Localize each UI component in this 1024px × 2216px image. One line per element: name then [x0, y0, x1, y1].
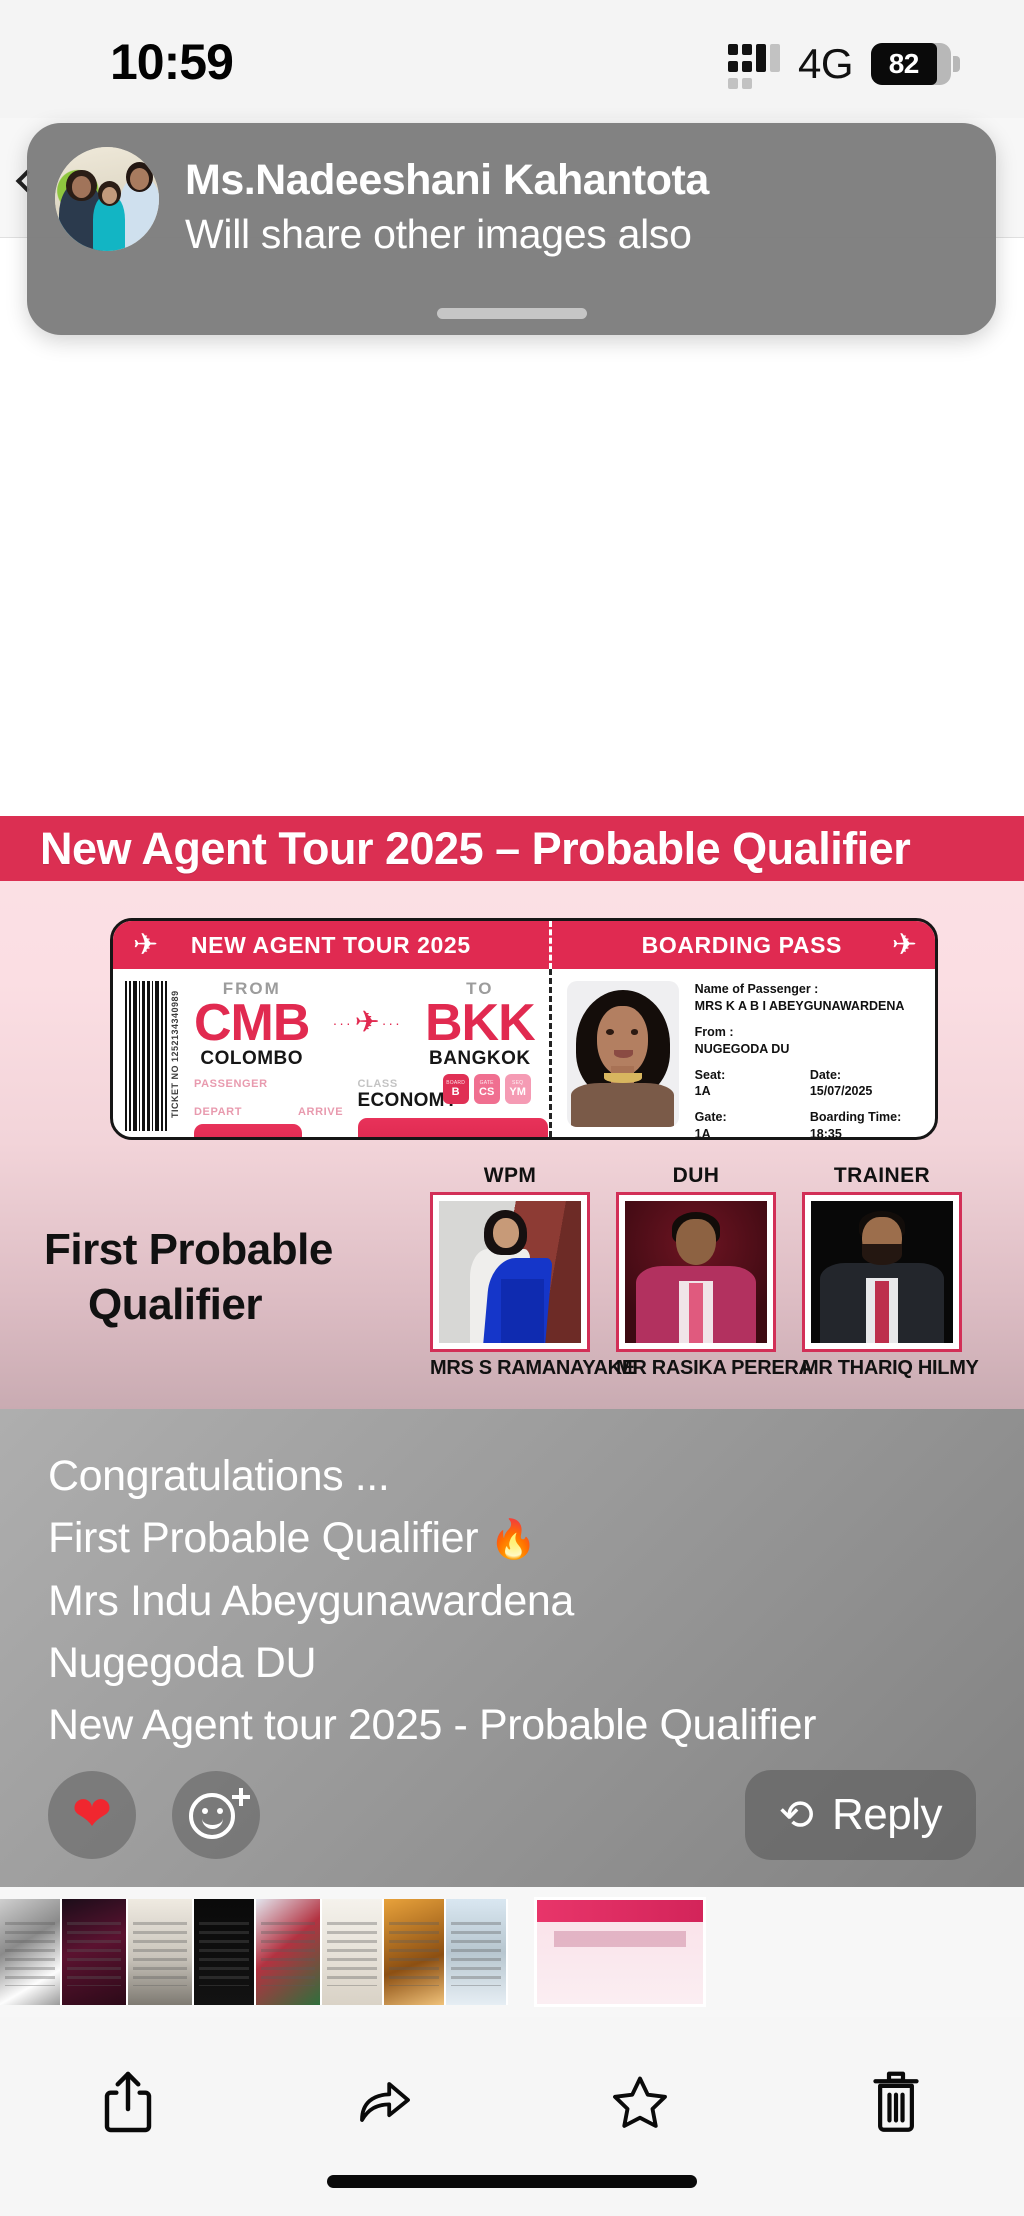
- date-label: Date:: [810, 1067, 925, 1084]
- gate-value: 1A: [695, 1126, 810, 1140]
- boarding-pass-stub: TICKET NO 1252134340989 FROM CMB COLOMBO…: [113, 969, 549, 1137]
- to-code: BKK: [425, 999, 535, 1048]
- image-thumbnail[interactable]: [0, 1899, 62, 2005]
- message-overlay: Congratulations ... First Probable Quali…: [0, 1409, 1024, 1887]
- image-thumbnail[interactable]: [194, 1899, 256, 2005]
- origin-label: From :: [695, 1024, 925, 1041]
- notification-message: Will share other images also: [185, 210, 709, 258]
- qualifier-heading: First Probable Qualifier: [44, 1222, 333, 1333]
- portrait-role: WPM: [430, 1164, 590, 1188]
- from-city: COLOMBO: [194, 1048, 309, 1070]
- portrait-photo-duh: [616, 1192, 776, 1352]
- message-line: New Agent tour 2025 - Probable Qualifier: [48, 1694, 1024, 1756]
- message-line-text: First Probable Qualifier: [48, 1514, 490, 1562]
- passenger-label: PASSENGER: [194, 1078, 358, 1090]
- passenger-name-value: MRS K A B I ABEYGUNAWARDENA: [695, 998, 925, 1015]
- barcode-icon: [125, 981, 167, 1131]
- portrait-photo-wpm: [430, 1192, 590, 1352]
- gate-label: Gate:: [695, 1109, 810, 1126]
- fire-emoji-icon: 🔥: [490, 1519, 537, 1561]
- boarding-pass-card: ✈ NEW AGENT TOUR 2025 BOARDING PASS ✈ TI…: [110, 918, 938, 1140]
- passenger-photo: [567, 981, 679, 1127]
- notification-sender: Ms.Nadeeshani Kahantota: [185, 155, 709, 206]
- share-icon: [100, 2069, 156, 2135]
- boarding-time-value: 18:35: [810, 1126, 925, 1140]
- depart-label: DEPART: [194, 1106, 242, 1118]
- boarding-pass-header-right: BOARDING PASS: [642, 932, 842, 959]
- poster-banner-title: New Agent Tour 2025 – Probable Qualifier: [40, 823, 910, 875]
- status-bar: 10:59 4G 82: [0, 0, 1024, 118]
- status-time: 10:59: [110, 33, 233, 91]
- reply-arrow-icon: ⟲: [779, 1794, 814, 1836]
- message-line: Congratulations ...: [48, 1445, 1024, 1507]
- add-reaction-icon: [189, 1788, 243, 1842]
- share-button[interactable]: [0, 2069, 256, 2135]
- trash-icon: [868, 2069, 924, 2135]
- favorite-button[interactable]: [512, 2069, 768, 2135]
- arrive-label: ARRIVE: [298, 1106, 343, 1118]
- boarding-pass-header: ✈ NEW AGENT TOUR 2025 BOARDING PASS ✈: [113, 921, 935, 969]
- notification-content: Ms.Nadeeshani Kahantota Will share other…: [55, 147, 968, 258]
- poster-banner: New Agent Tour 2025 – Probable Qualifier: [0, 816, 1024, 881]
- badge-ym: SEQ YM: [505, 1074, 531, 1104]
- qualifier-section: First Probable Qualifier WPM MRS S RAMAN…: [0, 1164, 1024, 1409]
- portrait-photo-trainer: [802, 1192, 962, 1352]
- portrait-name: MR THARIQ HILMY: [802, 1357, 962, 1380]
- seat-value: 1A: [695, 1083, 810, 1100]
- battery-percent: 82: [889, 48, 919, 80]
- delete-button[interactable]: [768, 2069, 1024, 2135]
- boarding-pass-details: Name of Passenger : MRS K A B I ABEYGUNA…: [549, 969, 935, 1137]
- image-thumbnail[interactable]: [128, 1899, 194, 2005]
- reply-label: Reply: [832, 1790, 942, 1840]
- from-code: CMB: [194, 999, 309, 1048]
- reply-button[interactable]: ⟲ Reply: [745, 1770, 976, 1860]
- qualifier-heading-line2: Qualifier: [88, 1277, 333, 1332]
- image-thumbnail[interactable]: [62, 1899, 128, 2005]
- star-icon: [612, 2069, 668, 2135]
- portrait-item: WPM MRS S RAMANAYAKE: [430, 1164, 590, 1380]
- portrait-item: DUH MR RASIKA PERERA: [616, 1164, 776, 1380]
- heart-icon: ❤: [72, 1791, 112, 1839]
- airplane-icon: ✈: [892, 928, 917, 963]
- seat-label: Seat:: [695, 1067, 810, 1084]
- message-line: Mrs Indu Abeygunawardena: [48, 1570, 1024, 1632]
- airplane-icon: ✈: [355, 1005, 380, 1040]
- image-thumbnail[interactable]: [322, 1899, 384, 2005]
- portrait-name: MRS S RAMANAYAKE: [430, 1357, 590, 1380]
- airplane-icon: ✈: [133, 928, 158, 963]
- forward-button[interactable]: [256, 2069, 512, 2135]
- image-thumbnail[interactable]: [384, 1899, 446, 2005]
- passenger-name-label: Name of Passenger :: [695, 981, 925, 998]
- phone-screen: 10:59 4G 82: [0, 0, 1024, 2216]
- drag-handle-icon[interactable]: [437, 308, 587, 319]
- notification-banner[interactable]: Ms.Nadeeshani Kahantota Will share other…: [27, 123, 996, 335]
- class-badges: BOARD B GATE CS SEQ YM: [443, 1074, 531, 1104]
- portrait-role: TRAINER: [802, 1164, 962, 1188]
- redacted-field-1: [194, 1124, 302, 1140]
- selected-image-thumbnail[interactable]: [534, 1897, 706, 2007]
- qualifier-heading-line1: First Probable: [44, 1225, 333, 1274]
- portrait-role: DUH: [616, 1164, 776, 1188]
- portrait-name: MR RASIKA PERERA: [616, 1357, 776, 1380]
- badge-b: BOARD B: [443, 1074, 469, 1104]
- date-value: 15/07/2025: [810, 1083, 925, 1100]
- status-indicators: 4G 82: [728, 40, 960, 88]
- thumbnail-filmstrip[interactable]: [0, 1887, 1024, 2017]
- message-actions: ❤ ⟲ Reply: [0, 1769, 1024, 1861]
- route-row: FROM CMB COLOMBO ··· ✈ ··· TO BKK BANGKO…: [194, 979, 535, 1070]
- network-type-label: 4G: [798, 40, 853, 88]
- image-thumbnail[interactable]: [446, 1899, 508, 2005]
- content-blank-area: [0, 335, 1024, 821]
- heart-reaction-button[interactable]: ❤: [48, 1771, 136, 1859]
- to-city: BANGKOK: [425, 1048, 535, 1070]
- perforation-line: [549, 921, 552, 969]
- image-thumbnail[interactable]: [256, 1899, 322, 2005]
- message-line: First Probable Qualifier 🔥: [48, 1507, 1024, 1569]
- portrait-list: WPM MRS S RAMANAYAKE DUH MR RA: [430, 1164, 962, 1380]
- family-photo-avatar: [55, 147, 159, 251]
- portrait-item: TRAINER MR THARIQ HILMY: [802, 1164, 962, 1380]
- battery-icon: 82: [871, 43, 960, 85]
- forward-icon: [356, 2069, 412, 2135]
- boarding-pass-header-left: NEW AGENT TOUR 2025: [191, 932, 471, 959]
- message-line: Nugegoda DU: [48, 1632, 1024, 1694]
- origin-value: NUGEGODA DU: [695, 1041, 925, 1058]
- boarding-time-label: Boarding Time:: [810, 1109, 925, 1126]
- ticket-number: TICKET NO 1252134340989: [170, 979, 180, 1129]
- badge-cs: GATE CS: [474, 1074, 500, 1104]
- signal-bars-icon: [728, 42, 780, 87]
- boarding-pass-fields: PASSENGER DEPART ARRIVE BOARD B: [194, 1078, 535, 1140]
- redacted-field-2: [358, 1118, 548, 1140]
- home-indicator: [327, 2175, 697, 2188]
- add-reaction-button[interactable]: [172, 1771, 260, 1859]
